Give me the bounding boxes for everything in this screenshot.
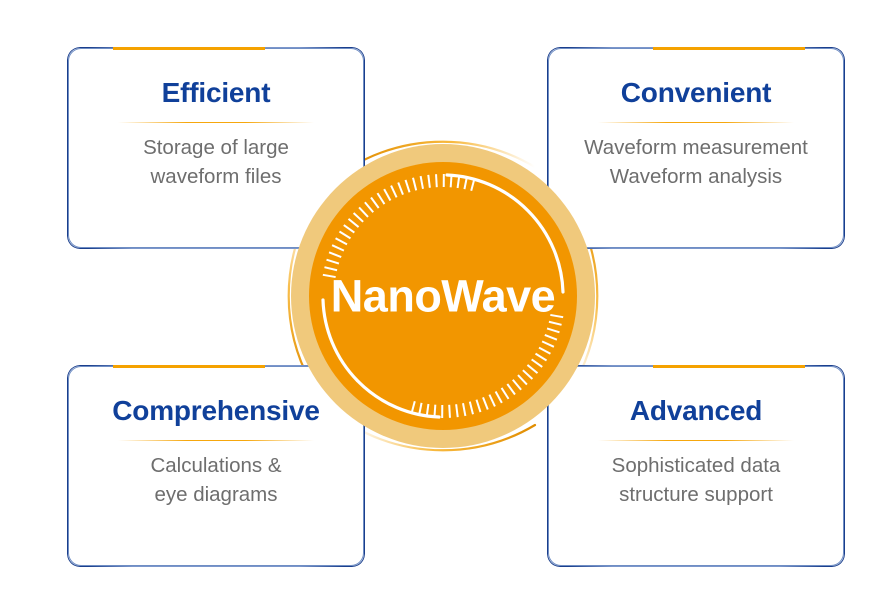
card-title: Advanced [630,397,762,425]
card-body-line-2: Waveform analysis [584,163,808,192]
card-body-line-2: waveform files [143,163,289,192]
card-divider [598,440,794,441]
card-divider [598,122,794,123]
card-body-line-2: structure support [612,481,781,510]
card-body-line-1: Storage of large [143,134,289,163]
card-title: Efficient [162,79,271,107]
card-title: Comprehensive [112,397,319,425]
badge-wordmark: NanoWave [331,274,555,319]
card-body-line-1: Waveform measurement [584,134,808,163]
card-body: Calculations & eye diagrams [150,452,281,509]
card-body: Waveform measurement Waveform analysis [584,134,808,191]
card-body-line-1: Sophisticated data [612,452,781,481]
card-body: Sophisticated data structure support [612,452,781,509]
card-divider [118,122,314,123]
badge-ticks-lower-right [411,315,563,418]
badge-ticks-upper-left [323,174,475,277]
card-body-line-1: Calculations & [150,452,281,481]
card-divider [118,440,314,441]
card-title: Convenient [621,79,771,107]
card-body-line-2: eye diagrams [150,481,281,510]
diagram-canvas: Efficient Storage of large waveform file… [0,0,886,591]
card-body: Storage of large waveform files [143,134,289,191]
